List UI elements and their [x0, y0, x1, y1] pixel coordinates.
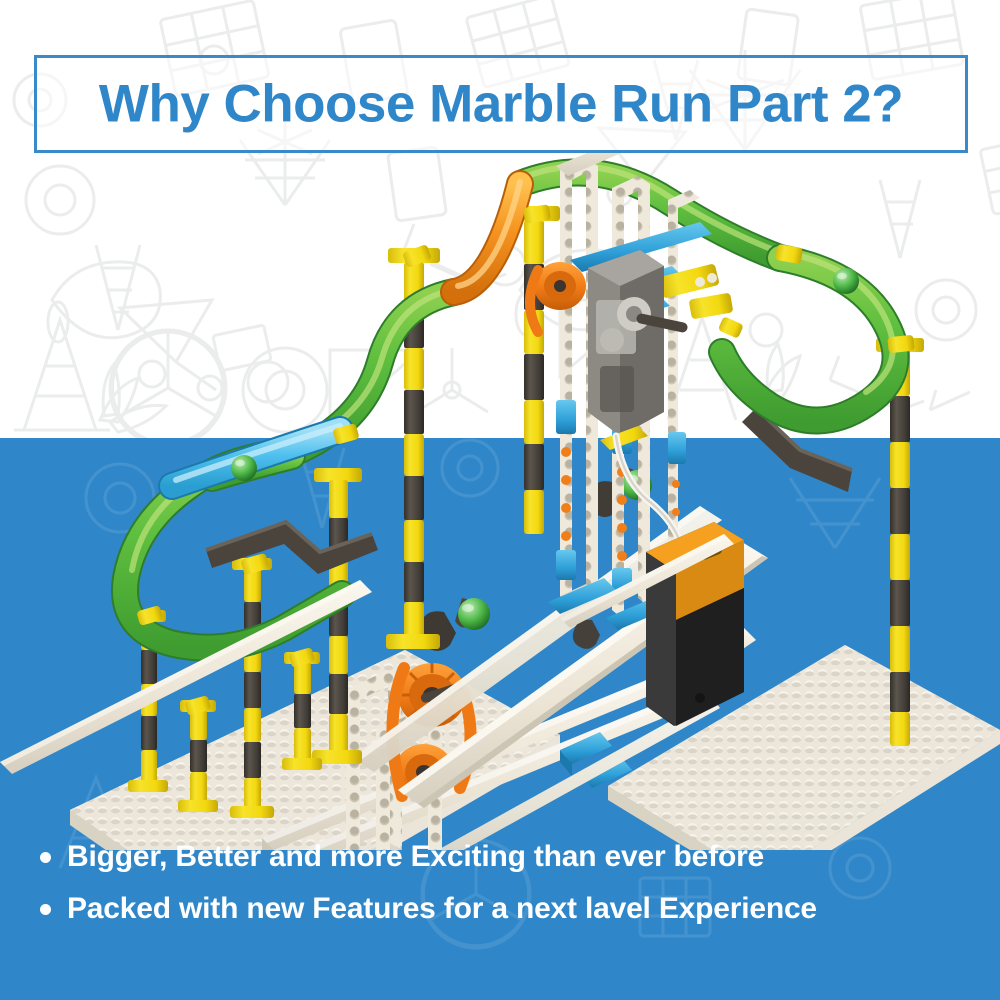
- bullet-text: Packed with new Features for a next lave…: [67, 890, 817, 928]
- title-box: Why Choose Marble Run Part 2?: [34, 55, 968, 153]
- marble-run-photo: [0, 150, 1000, 850]
- marble-green-3: [231, 455, 257, 481]
- bullet-dot-icon: [40, 852, 51, 863]
- track-orange: [454, 182, 520, 292]
- bullet-text: Bigger, Better and more Exciting than ev…: [67, 838, 764, 876]
- chute-grey-left: [206, 522, 378, 574]
- page-title: Why Choose Marble Run Part 2?: [37, 74, 965, 135]
- marble-green-2: [458, 598, 490, 630]
- poster-canvas: Why Choose Marble Run Part 2? Bigger, Be…: [0, 0, 1000, 1000]
- marble-green-4: [833, 268, 859, 294]
- bullet-dot-icon: [40, 904, 51, 915]
- list-item: Bigger, Better and more Exciting than ev…: [40, 838, 980, 876]
- feature-bullet-list: Bigger, Better and more Exciting than ev…: [40, 838, 980, 942]
- list-item: Packed with new Features for a next lave…: [40, 890, 980, 928]
